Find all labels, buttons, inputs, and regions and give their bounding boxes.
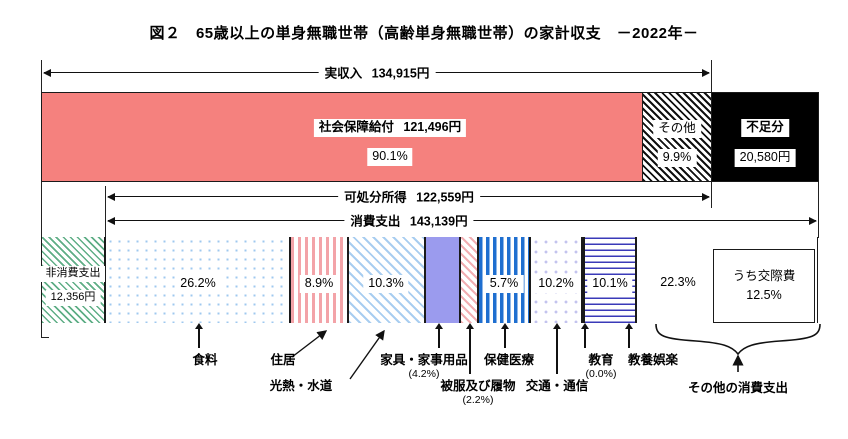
- income-segment-social-security: [41, 92, 643, 182]
- non-consumption-amount: 12,356円: [46, 290, 101, 306]
- inner-kosaihi-percent: 12.5%: [746, 286, 781, 305]
- category-label-clothing-sub: (2.2%): [440, 394, 515, 408]
- culture-percent: 10.1%: [587, 275, 632, 293]
- expenditure-segment-clothing: [460, 237, 478, 323]
- inner-kosaihi-label: うち交際費: [733, 267, 796, 286]
- category-label-education-text: 教育: [588, 353, 613, 367]
- income-segment-shortfall: [711, 92, 819, 182]
- category-label-food: 食料: [192, 352, 217, 368]
- expenditure-segment-furniture: [425, 237, 460, 323]
- chart-canvas: 図２ 65歳以上の単身無職世帯（高齢単身無職世帯）の家計収支 －2022年－ 実…: [0, 0, 848, 439]
- other-income-percent: 9.9%: [658, 149, 697, 167]
- leader-transport: [556, 328, 558, 374]
- measure-income-value: 134,915円: [372, 67, 430, 81]
- category-label-utilities-text: 光熱・水道: [270, 379, 333, 393]
- leader-food: [198, 328, 200, 348]
- social-security-label-text: 社会保障給付: [319, 120, 394, 134]
- leader-health: [504, 328, 506, 348]
- utilities-percent: 10.3%: [363, 275, 408, 293]
- frame-line-baseline: [41, 337, 49, 338]
- other-expenditure-percent: 22.3%: [660, 275, 695, 291]
- category-label-clothing: 被服及び履物 (2.2%): [440, 378, 515, 408]
- measure-disposable-value: 122,559円: [416, 191, 474, 205]
- frame-line-income-right: [711, 60, 712, 92]
- leader-clothing: [469, 328, 471, 374]
- category-label-other-expenditure-text: その他の消費支出: [688, 381, 788, 395]
- leader-education: [584, 328, 586, 348]
- category-label-transport-text: 交通・通信: [526, 379, 589, 393]
- category-label-food-text: 食料: [192, 353, 217, 367]
- category-label-health: 保健医療: [484, 352, 534, 368]
- category-label-clothing-text: 被服及び履物: [440, 379, 515, 393]
- category-label-education-sub: (0.0%): [586, 368, 617, 382]
- frame-line-consumption-right: [818, 182, 819, 238]
- page-title: 図２ 65歳以上の単身無職世帯（高齢単身無職世帯）の家計収支 －2022年－: [0, 22, 848, 43]
- leader-housing: [290, 327, 350, 359]
- leader-culture: [628, 328, 630, 348]
- category-label-education: 教育 (0.0%): [586, 352, 617, 382]
- measure-income-text: 実収入: [325, 67, 363, 81]
- category-label-health-text: 保健医療: [484, 353, 534, 367]
- measure-consumption-text: 消費支出: [350, 215, 400, 229]
- transport-percent: 10.2%: [533, 275, 578, 293]
- category-label-other-expenditure: その他の消費支出: [688, 380, 788, 396]
- measure-consumption-value: 143,139円: [410, 215, 468, 229]
- social-security-percent: 90.1%: [367, 148, 412, 166]
- measure-disposable-label: 可処分所得 122,559円: [338, 187, 480, 206]
- measure-consumption-label: 消費支出 143,139円: [344, 211, 473, 230]
- non-consumption-label: 非消費支出: [41, 266, 106, 282]
- shortfall-amount: 20,580円: [735, 149, 796, 167]
- social-security-amount: 121,496円: [403, 120, 461, 134]
- frame-line-disposable-left: [105, 186, 106, 238]
- measure-disposable-text: 可処分所得: [344, 191, 407, 205]
- category-label-housing-text: 住居: [270, 353, 295, 367]
- category-label-transport: 交通・通信: [526, 378, 589, 394]
- health-percent: 5.7%: [485, 275, 524, 293]
- food-percent: 26.2%: [175, 275, 220, 293]
- category-label-housing: 住居: [270, 352, 295, 368]
- leader-furniture: [438, 328, 440, 348]
- social-security-label: 社会保障給付 121,496円: [314, 119, 466, 137]
- other-income-label: その他: [653, 120, 701, 138]
- inner-kosaihi-box: うち交際費 12.5%: [713, 249, 815, 323]
- housing-percent: 8.9%: [300, 275, 339, 293]
- category-label-furniture-text: 家具・家事用品: [380, 353, 468, 367]
- category-label-utilities: 光熱・水道: [270, 378, 333, 394]
- frame-line-disposable-right: [711, 182, 712, 208]
- shortfall-label: 不足分: [741, 119, 789, 137]
- measure-income-label: 実収入 134,915円: [319, 63, 436, 82]
- leader-other-expenditure-brace: [650, 322, 835, 376]
